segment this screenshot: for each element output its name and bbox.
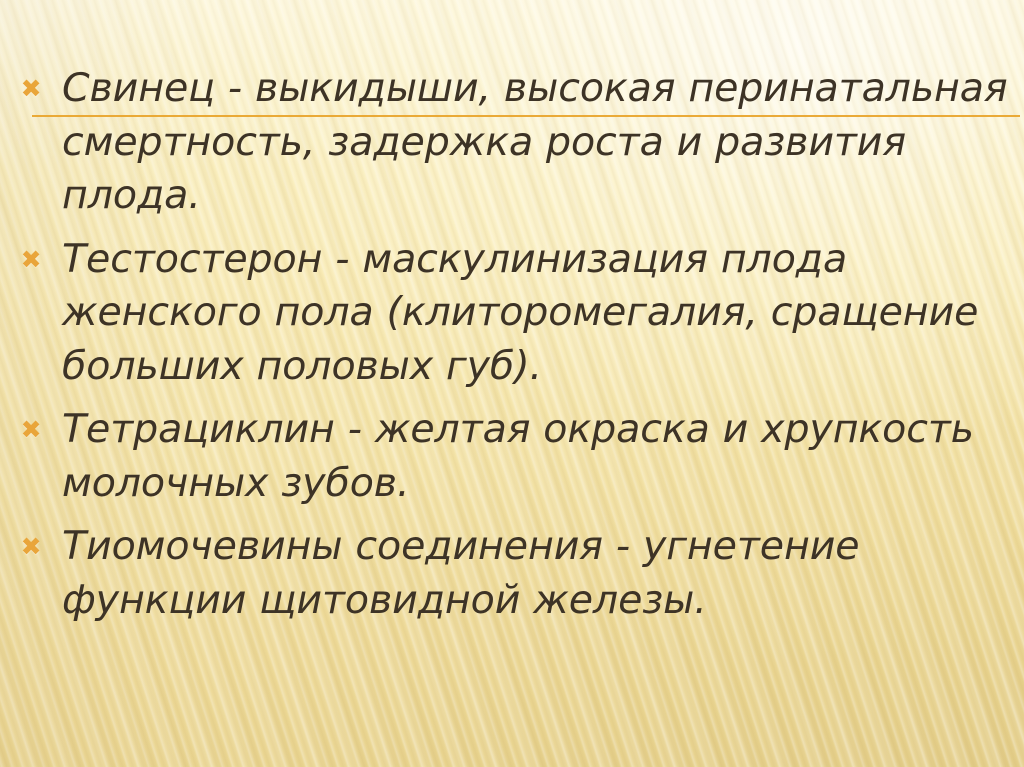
cross-bullet-icon: ✖ xyxy=(18,233,44,287)
cross-bullet-icon: ✖ xyxy=(18,403,44,457)
list-item: ✖ Тестостерон - маскулинизация плода жен… xyxy=(14,233,1010,394)
slide-content: ✖ Свинец - выкидыши, высокая перинатальн… xyxy=(0,0,1024,767)
list-item-text: Тестостерон - маскулинизация плода женск… xyxy=(62,233,1010,394)
list-item: ✖ Свинец - выкидыши, высокая перинатальн… xyxy=(14,62,1010,223)
list-item-text: Свинец - выкидыши, высокая перинатальная… xyxy=(62,62,1010,223)
list-item: ✖ Тетрациклин - желтая окраска и хрупкос… xyxy=(14,403,1010,510)
cross-bullet-icon: ✖ xyxy=(18,520,44,574)
list-item-text: Тетрациклин - желтая окраска и хрупкость… xyxy=(62,403,1010,510)
list-item-text: Тиомочевины соединения - угнетение функц… xyxy=(62,520,1010,627)
list-item: ✖ Тиомочевины соединения - угнетение фун… xyxy=(14,520,1010,627)
bullet-list: ✖ Свинец - выкидыши, высокая перинатальн… xyxy=(0,62,1010,627)
presentation-slide: ✖ Свинец - выкидыши, высокая перинатальн… xyxy=(0,0,1024,767)
cross-bullet-icon: ✖ xyxy=(18,62,44,116)
